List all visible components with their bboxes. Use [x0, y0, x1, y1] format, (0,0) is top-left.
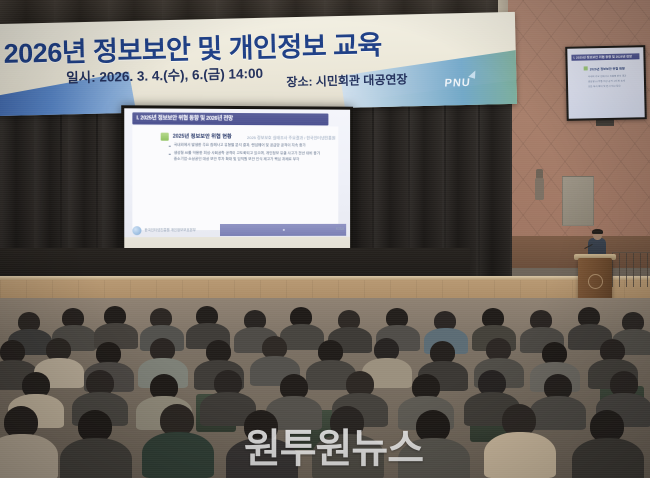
- slide-body-line: 생성형 AI를 악용한 피싱·사회공학 공격이 고도화되고 있으며, 개인정보 …: [174, 151, 320, 157]
- stage-edge: [0, 276, 650, 280]
- wall-speaker-box: [535, 178, 544, 200]
- curtain-skirt: [0, 248, 470, 278]
- monitor-slide-heading: 2025년 정보보안 위협 현황: [590, 66, 625, 72]
- audience: [0, 298, 650, 478]
- slide-body-line: 국내외에서 발생한 주요 침해사고 유형별 분석 결과, 랜섬웨어 및 공급망 …: [174, 143, 306, 149]
- slide-title: I. 2025년 정보보안 위협 동향 및 2026년 전망: [136, 113, 326, 126]
- slide-footer-right-text: KISA: [336, 227, 344, 231]
- projected-slide: I. 2025년 정보보안 위협 동향 및 2026년 전망 2025년 정보보…: [124, 108, 350, 237]
- slide-footer: 한국인터넷진흥원 개인정보보호본부 KISA: [124, 224, 350, 237]
- auditorium-side-wall: [508, 0, 650, 268]
- slide-footer-logo-icon: [132, 226, 141, 235]
- monitor-body-line: 생성형 AI 악용 피싱 공격 고도화 추세: [588, 80, 625, 84]
- banner-place: 장소: 시민회관 대공연장: [286, 70, 407, 90]
- monitor-body-line: 보안 투자 확대 및 인식 제고 필요: [588, 85, 621, 89]
- monitor-slide-title: I. 2025년 정보보안 위협 동향 및 2026년 전망: [573, 53, 639, 60]
- secondary-monitor: I. 2025년 정보보안 위협 동향 및 2026년 전망 2025년 정보보…: [565, 45, 647, 121]
- secondary-monitor-screen: I. 2025년 정보보안 위협 동향 및 2026년 전망 2025년 정보보…: [567, 47, 644, 119]
- slide-heading-note: 2025 정보보호 실태조사 주요결과 / 한국인터넷진흥원: [247, 134, 335, 142]
- monitor-body-line: 국내외 주요 침해사고 유형별 분석 결과: [588, 75, 627, 79]
- slide-footer-left-text: 한국인터넷진흥원 개인정보보호본부: [145, 227, 196, 232]
- photo-scene: 2026년 정보보안 및 개인정보 교육 일시: 2026. 3. 4.(수),…: [0, 0, 650, 478]
- banner-date: 일시: 2026. 3. 4.(수), 6.(금) 14:00: [66, 62, 263, 87]
- event-banner: 2026년 정보보안 및 개인정보 교육 일시: 2026. 3. 4.(수),…: [0, 12, 517, 116]
- slide-body-line: 중소기업·소상공인 대상 보안 투자 확대 및 임직원 보안 인식 제고가 핵심…: [174, 157, 300, 163]
- wall-panel: [562, 176, 594, 226]
- slide-bullet-icon: [161, 133, 169, 141]
- slide-footer-bar: [220, 224, 346, 236]
- pnu-logo-text: PNU: [444, 77, 471, 90]
- speaker-hair: [592, 229, 603, 234]
- monitor-bullet-icon: [584, 66, 588, 70]
- slide-heading: 2025년 정보보안 위협 현황: [173, 133, 232, 141]
- podium-emblem-icon: [588, 274, 603, 289]
- stage-railing: [612, 252, 650, 287]
